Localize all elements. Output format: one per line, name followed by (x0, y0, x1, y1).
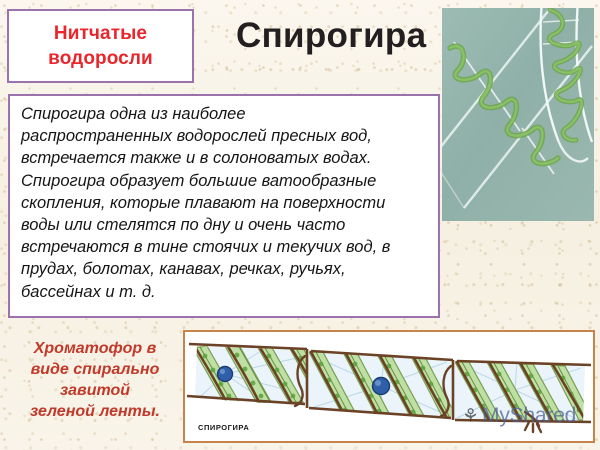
heading-badge: Нитчатые водоросли (7, 9, 194, 83)
body-line: встречается также и в солоноватых водах. (21, 147, 428, 169)
heading-line-1: Нитчатые (54, 21, 147, 46)
diagram-label: СПИРОГИРА (198, 423, 249, 432)
spirogyra-microscope-photo (442, 8, 594, 221)
caption-line: зеленой ленты. (6, 401, 184, 422)
body-line: воды или стелятся по дну и очень часто (21, 214, 428, 236)
caption-line: виде спирально (6, 359, 184, 380)
body-line: Спирогира образует большие ватообразные (21, 170, 428, 192)
body-text-box: Спирогира одна из наиболее распространен… (8, 94, 440, 318)
slide-canvas: Нитчатые водоросли Спирогира (0, 0, 600, 450)
page-title: Спирогира (236, 16, 426, 56)
chromatophore-caption: Хроматофор в виде спирально завитой зеле… (6, 338, 184, 422)
body-line: Спирогира одна из наиболее (21, 103, 428, 125)
body-line: встречаются в тине стоячих и текучих вод… (21, 236, 428, 258)
body-line: бассейнах и т. д. (21, 281, 428, 303)
heading-line-2: водоросли (48, 46, 153, 71)
body-line: распространенных водорослей пресных вод, (21, 125, 428, 147)
body-line: скопления, которые плавают на поверхност… (21, 192, 428, 214)
caption-line: завитой (6, 380, 184, 401)
spirogyra-cell-diagram: СПИРОГИРА (183, 330, 595, 443)
caption-line: Хроматофор в (6, 338, 184, 359)
body-line: прудах, болотах, канавах, речках, ручьях… (21, 258, 428, 280)
